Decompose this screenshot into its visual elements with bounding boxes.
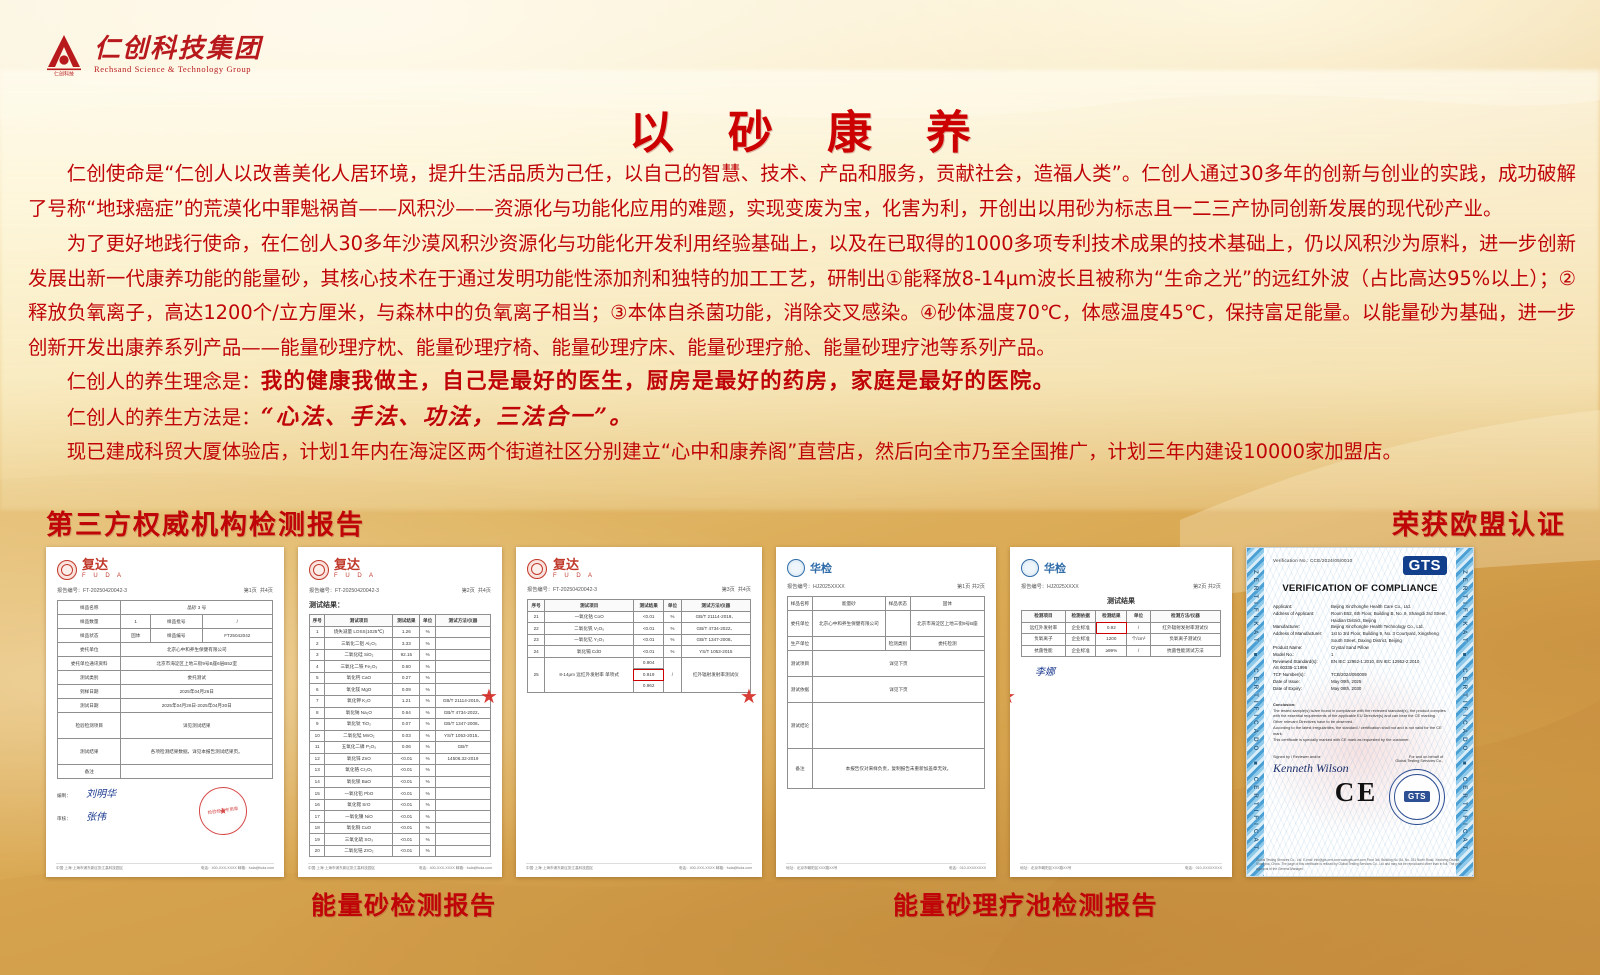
section-heading-reports: 第三方权威机构检测报告 [46, 503, 365, 542]
table-cell: 一氧化镍 NiO [325, 811, 393, 823]
table-row: 9氧化钛 TiO₂0.07%GB/T 1347-2008、 [310, 719, 491, 731]
cert1-r3-value: 北京心中和养生保健有限公司 [121, 643, 273, 657]
table-cell: 负氧离子 [1022, 634, 1066, 646]
cert4-r1-label2 [885, 611, 910, 637]
cert4-r5-value [812, 703, 984, 749]
column-header-3: 单位 [664, 600, 681, 612]
certificate-gts-verification[interactable]: ZERTIFIKAT ■ CERTIFICADO ■ CERTIFICAT ZE… [1246, 547, 1474, 877]
table-cell: 二氧化锰 MnO₂ [325, 730, 393, 742]
gts-logo: GTS [1403, 556, 1447, 575]
cert1-r8-value: 详见测试结果 [121, 713, 273, 739]
column-header-2: 检测结果 [1096, 611, 1127, 623]
table-cell: 9 [310, 719, 325, 731]
table-row: 6氧化镁 MgO0.09% [310, 684, 491, 696]
table-cell: 五氧化二磷 P₂O₅ [325, 742, 393, 754]
cert1-r1-value: 1 [121, 615, 150, 629]
table-cell [435, 822, 490, 834]
cert3-report-no: 报告编号：FT-20250420042-3 [527, 586, 597, 593]
table-cell: <0.01 [393, 845, 420, 857]
edge-red-ribbon-icon: ★ [480, 687, 502, 733]
gts-conclusion-text: The tested sample(s) is/are found in com… [1273, 708, 1447, 720]
table-row: 测试结论 [788, 703, 985, 749]
table-cell: <0.01 [393, 776, 420, 788]
paragraph-mission: 仁创使命是“仁创人以改善美化人居环境，提升生活品质为己任，以自己的智慧、技术、产… [28, 157, 1576, 226]
cert1-info-table: 样品名称 晶砂 3 号 样品数量 1 样品批号 / 样品状态 固体 样品编号 F… [57, 600, 273, 779]
gts-field-5: Model No.:1 [1273, 652, 1447, 659]
cert4-r6-label: 备注 [788, 749, 813, 789]
table-cell: 0.03 [393, 730, 420, 742]
table-header-row: 序号测试项目测试结果单位测试方法/仪器 [310, 615, 491, 627]
column-header-4: 测试方法/仪器 [435, 615, 490, 627]
table-cell: % [420, 845, 435, 857]
table-cell: 企业标准 [1065, 645, 1096, 657]
cert2-subtitle: 测试结果： [309, 600, 491, 610]
table-cell: 烧失减量 LOSS(1025℃) [325, 626, 393, 638]
table-cell: 三氧化硫 SO₃ [325, 834, 393, 846]
column-header-0: 检测项目 [1022, 611, 1066, 623]
cert1-r1-label2: 样品批号 [150, 615, 202, 629]
cert1-report-no: 报告编号：FT-20250420042-3 [57, 587, 127, 594]
cert1-r4-value: 北京市海淀区上地三街9号B座6层B52室 [121, 657, 273, 671]
edge-red-ribbon-icon: ★ [740, 687, 762, 733]
certificate-pool-page2[interactable]: 华检 报告编号：HJ2025XXXX 第2页 共2页 测试结果 检测项目检测依据… [1010, 547, 1232, 877]
table-cell: GB/T 21114-2019、 [681, 611, 750, 623]
table-row: 委托单位通讯资料 北京市海淀区上地三街9号B座6层B52室 [58, 657, 273, 671]
fuda-brand-cn: 复达 [334, 559, 376, 572]
cert3-footer: 中国·上海·上海市浦东新区张江高科技园区 电话：400-XXX-XXXX 邮箱：… [526, 863, 752, 871]
cert4-r1-label: 委托单位 [788, 611, 813, 637]
brand-header: 仁创科技 仁创科技集团 Rechsand Science & Technolog… [44, 33, 262, 77]
slogan-method: 仁创人的养生方法是：“心法、手法、功法，三法合一”。 [28, 400, 1576, 436]
table-cell: 2 [310, 638, 325, 650]
table-cell: GB/T [435, 742, 490, 754]
cert1-r9-label: 测试结果 [58, 739, 121, 765]
table-cell: <0.01 [633, 611, 663, 623]
table-row: 备注 [58, 765, 273, 779]
table-row: 13氧化铬 Cr₂O₃<0.01% [310, 765, 491, 777]
table-cell: <0.01 [393, 834, 420, 846]
table-cell: <0.01 [393, 822, 420, 834]
column-header-1: 测试项目 [545, 600, 634, 612]
cert1-r10-label: 备注 [58, 765, 121, 779]
huajian-seal-icon [1021, 559, 1039, 577]
fuda-brand-cn: 复达 [553, 559, 595, 572]
gts-field-9: Date of Issue:May 09th, 2025 [1273, 679, 1447, 686]
table-cell: GB/T 1347-2008、 [681, 634, 750, 646]
table-cell [435, 776, 490, 788]
cert4-r2-label: 生产单位 [788, 637, 813, 651]
table-row: 17一氧化镍 NiO<0.01% [310, 811, 491, 823]
table-cell: 氧化钙 CaO [325, 672, 393, 684]
table-cell: % [420, 707, 435, 719]
certificate-gallery: 复达 F U D A 报告编号：FT-20250420042-3 第1页 共4页… [46, 547, 1554, 877]
cert1-r7-value: 2025年04月26日-2025年04月30日 [121, 699, 273, 713]
table-cell: 氧化镉 CdO [545, 646, 634, 658]
gts-side-band-left: ZERTIFIKAT ■ CERTIFICADO ■ CERTIFICAT [1247, 548, 1264, 876]
cert2-report-no: 报告编号：FT-20250420042-3 [309, 587, 379, 594]
table-cell: / [664, 657, 681, 692]
table-cell: 一氧化铅 PbO [325, 788, 393, 800]
cert4-r0-value: 能量砂 [812, 597, 885, 611]
table-cell: 氧化钡 BaO [325, 776, 393, 788]
table-cell: 0.60 [393, 661, 420, 673]
table-cell: 远红外发射率 [1022, 622, 1066, 634]
cert3-meta: 报告编号：FT-20250420042-3 第3页 共4页 [527, 586, 751, 593]
cert1-r2-value: 固体 [121, 629, 150, 643]
table-row: 备注 本报告仅对来样负责，复制报告未重新加盖章无效。 [788, 749, 985, 789]
table-cell [435, 811, 490, 823]
gts-field-key: TCF Number(s): [1273, 672, 1331, 679]
table-cell: 14 [310, 776, 325, 788]
brand-name-cn: 仁创科技集团 [94, 36, 262, 62]
cert1-r10-value [121, 765, 273, 779]
table-row: 22二氧化钒 V₂O₅<0.01%GB/T 4734-2022、 [528, 623, 751, 635]
table-cell: 负氧离子测试仪 [1150, 634, 1220, 646]
table-cell: 三氧化二铝 Al₂O₃ [325, 638, 393, 650]
table-row: 测试依据 详见下页 [788, 677, 985, 703]
table-cell: 6 [310, 684, 325, 696]
table-cell: 8 [310, 707, 325, 719]
table-row: 检验检测项目 详见测试结果 [58, 713, 273, 739]
table-cell: 氧化钛 TiO₂ [325, 719, 393, 731]
table-cell: 24 [528, 646, 545, 658]
table-row: 23一氧化钇 Y₂O₃<0.01%GB/T 1347-2008、 [528, 634, 751, 646]
table-cell: 11 [310, 742, 325, 754]
signature-ink: 刘明华 [86, 789, 116, 800]
cert4-report-no: 报告编号：HJ2025XXXX [787, 583, 845, 590]
table-cell: % [420, 719, 435, 731]
table-row: 负氧离子企业标准1200个/cm³负氧离子测试仪 [1022, 634, 1221, 646]
cert3-page-right: 共4页 [738, 587, 751, 593]
gts-field-key: AS 60335-1:1996 [1273, 665, 1331, 672]
table-row: 18氧化铜 CuO<0.01% [310, 822, 491, 834]
table-cell: 氧化锶 SrO [325, 799, 393, 811]
table-row: 测试结果 各项检测结果数据，详见本报告测试结果页。 [58, 739, 273, 765]
table-cell: % [420, 753, 435, 765]
cert1-meta: 报告编号：FT-20250420042-3 第1页 共4页 [57, 587, 273, 594]
cert5-report-no: 报告编号：HJ2025XXXX [1021, 583, 1079, 590]
table-cell [435, 765, 490, 777]
cert1-page-right: 共4页 [260, 588, 273, 594]
fuda-brand-header: 复达 F U D A [527, 559, 751, 580]
table-cell: 三氧化二铁 Fe₂O₃ [325, 661, 393, 673]
gts-note-3: This certificate is specially marked wit… [1273, 737, 1447, 743]
cert4-page: 第1页 共2页 [957, 583, 985, 590]
table-cell: % [664, 623, 681, 635]
table-cell: 二氧化锆 ZrO₂ [325, 845, 393, 857]
gts-field-key: Reviewed Standard(s): [1273, 659, 1331, 666]
gts-field-key: Manufacturer: [1273, 624, 1331, 631]
gts-field-0: Applicant:Beijing Xinzhonghe Health Care… [1273, 604, 1447, 611]
cert4-r3-label: 测试项目 [788, 651, 813, 677]
gts-field-value: May 08th, 2030 [1331, 686, 1447, 693]
table-header-row: 序号测试项目测试结果单位测试方法/仪器 [528, 600, 751, 612]
cert4-r4-value: 详见下页 [812, 677, 984, 703]
gts-field-list: Applicant:Beijing Xinzhonghe Health Care… [1273, 604, 1447, 693]
huajian-brand-cn: 华检 [810, 560, 832, 576]
gts-note-2: According to the latest irregularities, … [1273, 725, 1447, 737]
table-cell: 二氧化硅 SiO₂ [325, 649, 393, 661]
table-cell: ≥99% [1096, 645, 1127, 657]
cert1-r2-value2: FT25042042 [202, 629, 272, 643]
gts-side-band-right: ZERTIFIKAT ■ CERTIFICADO ■ CERTIFICAT [1456, 548, 1473, 876]
table-row: 14氧化钡 BaO<0.01% [310, 776, 491, 788]
table-cell: 0.962 [633, 681, 663, 693]
slogan-method-text: “心法、手法、功法，三法合一”。 [261, 404, 634, 430]
table-cell: <0.01 [393, 753, 420, 765]
table-cell: 1200 [1096, 634, 1127, 646]
gts-field-value: May 09th, 2025 [1331, 679, 1447, 686]
cert5-page: 第2页 共2页 [1193, 583, 1221, 590]
table-cell: 92.15 [393, 649, 420, 661]
gts-field-4: Product Name:Crystal Sand Pillow [1273, 645, 1447, 652]
cert4-r1-value2: 北京市海淀区上地三街9号B座 [910, 611, 984, 637]
body-copy: 仁创使命是“仁创人以改善美化人居环境，提升生活品质为己任，以自己的智慧、技术、产… [28, 157, 1576, 470]
slogan-philosophy-lead: 仁创人的养生理念是： [67, 370, 261, 393]
fuda-brand-header: 复达 F U D A [57, 559, 273, 580]
table-cell: 0.09 [393, 684, 420, 696]
table-row: 到样日期 2025年04月26日 [58, 685, 273, 699]
table-cell: % [420, 834, 435, 846]
gts-round-seal-icon: GTS [1389, 769, 1445, 825]
table-cell [435, 799, 490, 811]
table-cell [435, 834, 490, 846]
cert2-page-right: 共4页 [478, 588, 491, 594]
cert4-r2-value2: 委托检测 [910, 637, 984, 651]
table-cell: 13 [310, 765, 325, 777]
table-cell: <0.01 [393, 799, 420, 811]
table-cell: 25 [528, 657, 545, 692]
cert4-r2-value [812, 637, 885, 651]
table-row: 委托单位 北京心中和养生保健有限公司 北京市海淀区上地三街9号B座 [788, 611, 985, 637]
table-row: 24氧化镉 CdO<0.01%YS/T 1053-2015 [528, 646, 751, 658]
cert2-meta: 报告编号：FT-20250420042-3 第2页 共4页 [309, 587, 491, 594]
signature-ink: 张伟 [86, 812, 106, 823]
table-cell: 氧化铬 Cr₂O₃ [325, 765, 393, 777]
table-cell: 18 [310, 822, 325, 834]
table-row: 20二氧化锆 ZrO₂<0.01% [310, 845, 491, 857]
fuda-brand-cn: 复达 [82, 559, 124, 572]
fuda-brand-en: F U D A [334, 572, 376, 580]
cert4-r2-label2: 检测类别 [885, 637, 910, 651]
table-cell: 3 [310, 649, 325, 661]
gts-field-1: Address of Applicant:Room B52, 6th Floor… [1273, 611, 1447, 625]
table-cell: <0.01 [393, 765, 420, 777]
cert1-r3-label: 委托单位 [58, 643, 121, 657]
cert2-page-left: 第2页 [462, 588, 475, 594]
table-row: 抗菌性能企业标准≥99%/抗菌性能测试方法 [1022, 645, 1221, 657]
table-cell: 个/cm³ [1127, 634, 1151, 646]
table-cell: 10 [310, 730, 325, 742]
gts-field-value: EN IEC 12952-1:2010, EN IEC 12952-2:2010 [1331, 659, 1447, 666]
table-cell: % [420, 638, 435, 650]
table-cell: 22 [528, 623, 545, 635]
cert3-page-left: 第3页 [722, 587, 735, 593]
table-cell: 红外辐射发射率测试仪 [1150, 622, 1220, 634]
table-cell: 抗菌性能 [1022, 645, 1066, 657]
gts-field-key: Address of Applicant: [1273, 611, 1331, 625]
table-cell: 1 [310, 626, 325, 638]
table-header-row: 检测项目检测依据检测结果单位检测方法/仪器 [1022, 611, 1221, 623]
table-cell [435, 649, 490, 661]
table-cell: % [420, 765, 435, 777]
table-cell: 氧化钾 K₂O [325, 696, 393, 708]
cert4-r5-label: 测试结论 [788, 703, 813, 749]
table-row: 258-14μm 远红外发射率 单项式0.904/红外辐射发射率测试仪 [528, 657, 751, 669]
cert4-r4-label: 测试依据 [788, 677, 813, 703]
cert2-results-table: 序号测试项目测试结果单位测试方法/仪器1烧失减量 LOSS(1025℃)1.26… [309, 614, 491, 857]
brand-name-en: Rechsand Science & Technology Group [94, 65, 262, 74]
table-cell: 0.07 [393, 719, 420, 731]
table-cell: 氧化钠 Na₂O [325, 707, 393, 719]
table-cell: 0.27 [393, 672, 420, 684]
cert4-r1-value: 北京心中和养生保健有限公司 [812, 611, 885, 637]
gts-field-6: Reviewed Standard(s):EN IEC 12952-1:2010… [1273, 659, 1447, 666]
gts-field-7: AS 60335-1:1996 [1273, 665, 1447, 672]
fuda-brand-en: F U D A [82, 572, 124, 580]
fuda-brand-en: F U D A [553, 572, 595, 580]
cert4-r0-label: 样品名称 [788, 597, 813, 611]
table-cell: % [420, 811, 435, 823]
table-row: 5氧化钙 CaO0.27% [310, 672, 491, 684]
table-cell [435, 788, 490, 800]
table-cell: 7 [310, 696, 325, 708]
certificate-pool-page1[interactable]: 华检 报告编号：HJ2025XXXX 第1页 共2页 样品名称 能量砂 样品状态… [776, 547, 996, 877]
table-cell: % [420, 788, 435, 800]
table-cell: % [420, 696, 435, 708]
huajian-brand-header: 华检 [1021, 559, 1221, 577]
gts-field-key: Model No.: [1273, 652, 1331, 659]
huajian-brand-cn: 华检 [1044, 560, 1066, 576]
cert1-r2-label: 样品状态 [58, 629, 121, 643]
gts-field-value: Room B52, 6th Floor, Building B, No. 9, … [1331, 611, 1447, 625]
fuda-seal-icon [57, 560, 77, 580]
gts-field-value [1331, 665, 1447, 672]
cert1-signature-area: 编制： 刘明华 审核： 张伟 ★ 检验检测专用章 [57, 785, 273, 837]
paragraph-expansion: 现已建成科贸大厦体验店，计划1年内在海淀区两个街道社区分别建立“心中和康养阁”直… [28, 435, 1576, 470]
caption-energy-sand-report: 能量砂检测报告 [311, 886, 497, 922]
certificate-fuda-page2[interactable]: 复达 F U D A 报告编号：FT-20250420042-3 第2页 共4页… [298, 547, 502, 877]
table-cell [435, 626, 490, 638]
table-cell: % [420, 799, 435, 811]
gts-signed-label: Signed by / Reviewer and/or [1273, 755, 1321, 759]
table-row: 样品状态 固体 样品编号 FT25042042 [58, 629, 273, 643]
cert5-meta: 报告编号：HJ2025XXXX 第2页 共2页 [1021, 583, 1221, 590]
table-row: 8氧化钠 Na₂O0.64%GB/T 4734-2022、 [310, 707, 491, 719]
table-row: 16氧化锶 SrO<0.01% [310, 799, 491, 811]
huajian-brand-header: 华检 [787, 559, 985, 577]
column-header-2: 测试结果 [633, 600, 663, 612]
cert1-r2-label2: 样品编号 [150, 629, 202, 643]
table-row: 7氧化钾 K₂O1.21%GB/T 21114-2019、 [310, 696, 491, 708]
certificate-fuda-page3[interactable]: 复达 F U D A 报告编号：FT-20250420042-3 第3页 共4页… [516, 547, 762, 877]
gts-band-text-left: ZERTIFIKAT ■ CERTIFICADO ■ CERTIFICAT [1252, 570, 1259, 853]
gts-field-key: Address of Manufacturer: [1273, 631, 1331, 645]
huajian-seal-icon [787, 559, 805, 577]
page-title: 以砂康养 [0, 96, 1600, 161]
cert4-r0-label2: 样品状态 [885, 597, 910, 611]
table-cell: <0.01 [393, 788, 420, 800]
table-cell: 0.904 [633, 657, 663, 669]
table-cell: 8-14μm 远红外发射率 单项式 [545, 657, 634, 692]
table-cell: % [664, 646, 681, 658]
cert1-r9-value: 各项检测结果数据，详见本报告测试结果页。 [121, 739, 273, 765]
cert4-info-table: 样品名称 能量砂 样品状态 固体 委托单位 北京心中和养生保健有限公司 北京市海… [787, 596, 985, 789]
table-cell [435, 661, 490, 673]
column-header-0: 序号 [528, 600, 545, 612]
column-header-1: 检测依据 [1065, 611, 1096, 623]
cert5-footer: 地址：北京市朝阳区XXX路XX号 电话：010-XXXXXXXX [1020, 863, 1222, 871]
column-header-4: 检测方法/仪器 [1150, 611, 1220, 623]
gts-onbehalf-value: Global Testing Services Co., [1395, 759, 1443, 763]
cert1-r5-value: 委托测试 [121, 671, 273, 685]
gts-conclusion-block: Conclusion: The tested sample(s) is/are … [1273, 702, 1447, 743]
cert1-r0-label: 样品名称 [58, 601, 121, 615]
gts-field-value: TCB/2024/050009 [1331, 672, 1447, 679]
column-header-3: 单位 [420, 615, 435, 627]
table-cell: <0.01 [633, 646, 663, 658]
gts-title: VERIFICATION OF COMPLIANCE [1273, 583, 1447, 594]
table-cell: <0.01 [633, 623, 663, 635]
table-row: 11五氧化二磷 P₂O₅0.06%GB/T [310, 742, 491, 754]
table-cell: % [420, 626, 435, 638]
gts-field-value: Crystal Sand Pillow [1331, 645, 1447, 652]
table-cell: 21 [528, 611, 545, 623]
table-row: 样品名称 能量砂 样品状态 固体 [788, 597, 985, 611]
gts-field-value: 1st to 3rd Floor, Building 9, No. 3 Cour… [1331, 631, 1447, 645]
table-cell: 企业标准 [1065, 634, 1096, 646]
gts-signature-block: Signed by / Reviewer and/or Kenneth Wils… [1273, 755, 1447, 829]
table-cell: 0.919 [633, 669, 663, 681]
table-cell: 5 [310, 672, 325, 684]
table-cell: 二氧化钒 V₂O₅ [545, 623, 634, 635]
signature-ink: 李娜 [1035, 663, 1221, 678]
table-cell: % [420, 684, 435, 696]
fuda-brand-header: 复达 F U D A [309, 559, 491, 580]
table-row: 19三氧化硫 SO₃<0.01% [310, 834, 491, 846]
table-cell: 12 [310, 753, 325, 765]
cert5-subtitle: 测试结果 [1021, 596, 1221, 606]
cert4-r3-value: 详见下页 [812, 651, 984, 677]
table-row: 远红外发射率企业标准0.92/红外辐射发射率测试仪 [1022, 622, 1221, 634]
edge-red-ribbon-icon: ★ [1010, 687, 1032, 733]
caption-energy-sand-pool-report: 能量砂理疗池检测报告 [893, 886, 1158, 922]
table-cell: % [420, 661, 435, 673]
ce-mark-icon: CE [1335, 777, 1379, 808]
gts-field-value: Beijing Xinzhonghe Health Care Co., Ltd. [1331, 604, 1447, 611]
gts-band-text-right: ZERTIFIKAT ■ CERTIFICADO ■ CERTIFICAT [1461, 570, 1468, 853]
table-cell: % [420, 822, 435, 834]
column-header-4: 测试方法/仪器 [681, 600, 750, 612]
slogan-method-lead: 仁创人的养生方法是： [67, 406, 261, 429]
cert1-page-left: 第1页 [244, 588, 257, 594]
certificate-fuda-page1[interactable]: 复达 F U D A 报告编号：FT-20250420042-3 第1页 共4页… [46, 547, 284, 877]
table-cell: 14506.32-2019 [435, 753, 490, 765]
table-cell: <0.01 [633, 634, 663, 646]
table-cell: % [420, 672, 435, 684]
table-row: 样品数量 1 样品批号 / [58, 615, 273, 629]
rechsand-logo-icon: 仁创科技 [44, 33, 84, 77]
column-header-3: 单位 [1127, 611, 1151, 623]
column-header-2: 测试结果 [393, 615, 420, 627]
cert1-r4-label: 委托单位通讯资料 [58, 657, 121, 671]
table-cell: 17 [310, 811, 325, 823]
cert4-meta: 报告编号：HJ2025XXXX 第1页 共2页 [787, 583, 985, 590]
table-cell: 15 [310, 788, 325, 800]
paragraph-technology: 为了更好地践行使命，在仁创人30多年沙漠风积沙资源化与功能化开发利用经验基础上，… [28, 227, 1576, 365]
cert1-r8-label: 检验检测项目 [58, 713, 121, 739]
table-cell: 0.92 [1096, 622, 1127, 634]
